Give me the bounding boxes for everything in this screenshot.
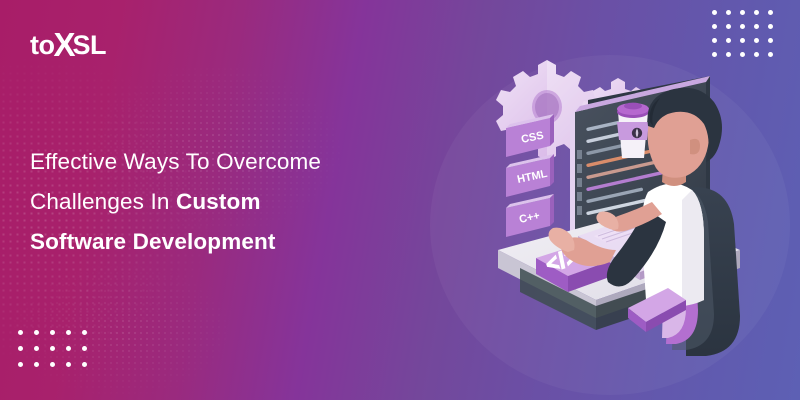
headline-line-1: Effective Ways To Overcome <box>30 142 390 182</box>
hero-illustration: CSS HTML C++ <box>410 0 800 400</box>
coffee-cup <box>617 103 649 158</box>
headline-line-2: Challenges In Custom <box>30 182 390 222</box>
logo-text-prefix: to <box>30 32 54 59</box>
decorative-dot-grid-bottom-left <box>18 330 98 378</box>
headline-line-2-bold: Custom <box>176 189 261 214</box>
logo-text-x: X <box>53 28 73 61</box>
brand-logo[interactable]: toXSL <box>30 26 106 59</box>
promo-banner: toXSL Effective Ways To Overcome Challen… <box>0 0 800 400</box>
headline-line-3: Software Development <box>30 222 390 262</box>
logo-text-suffix: SL <box>73 32 107 59</box>
headline-block: Effective Ways To Overcome Challenges In… <box>30 142 390 262</box>
headline-line-2-normal: Challenges In <box>30 189 176 214</box>
